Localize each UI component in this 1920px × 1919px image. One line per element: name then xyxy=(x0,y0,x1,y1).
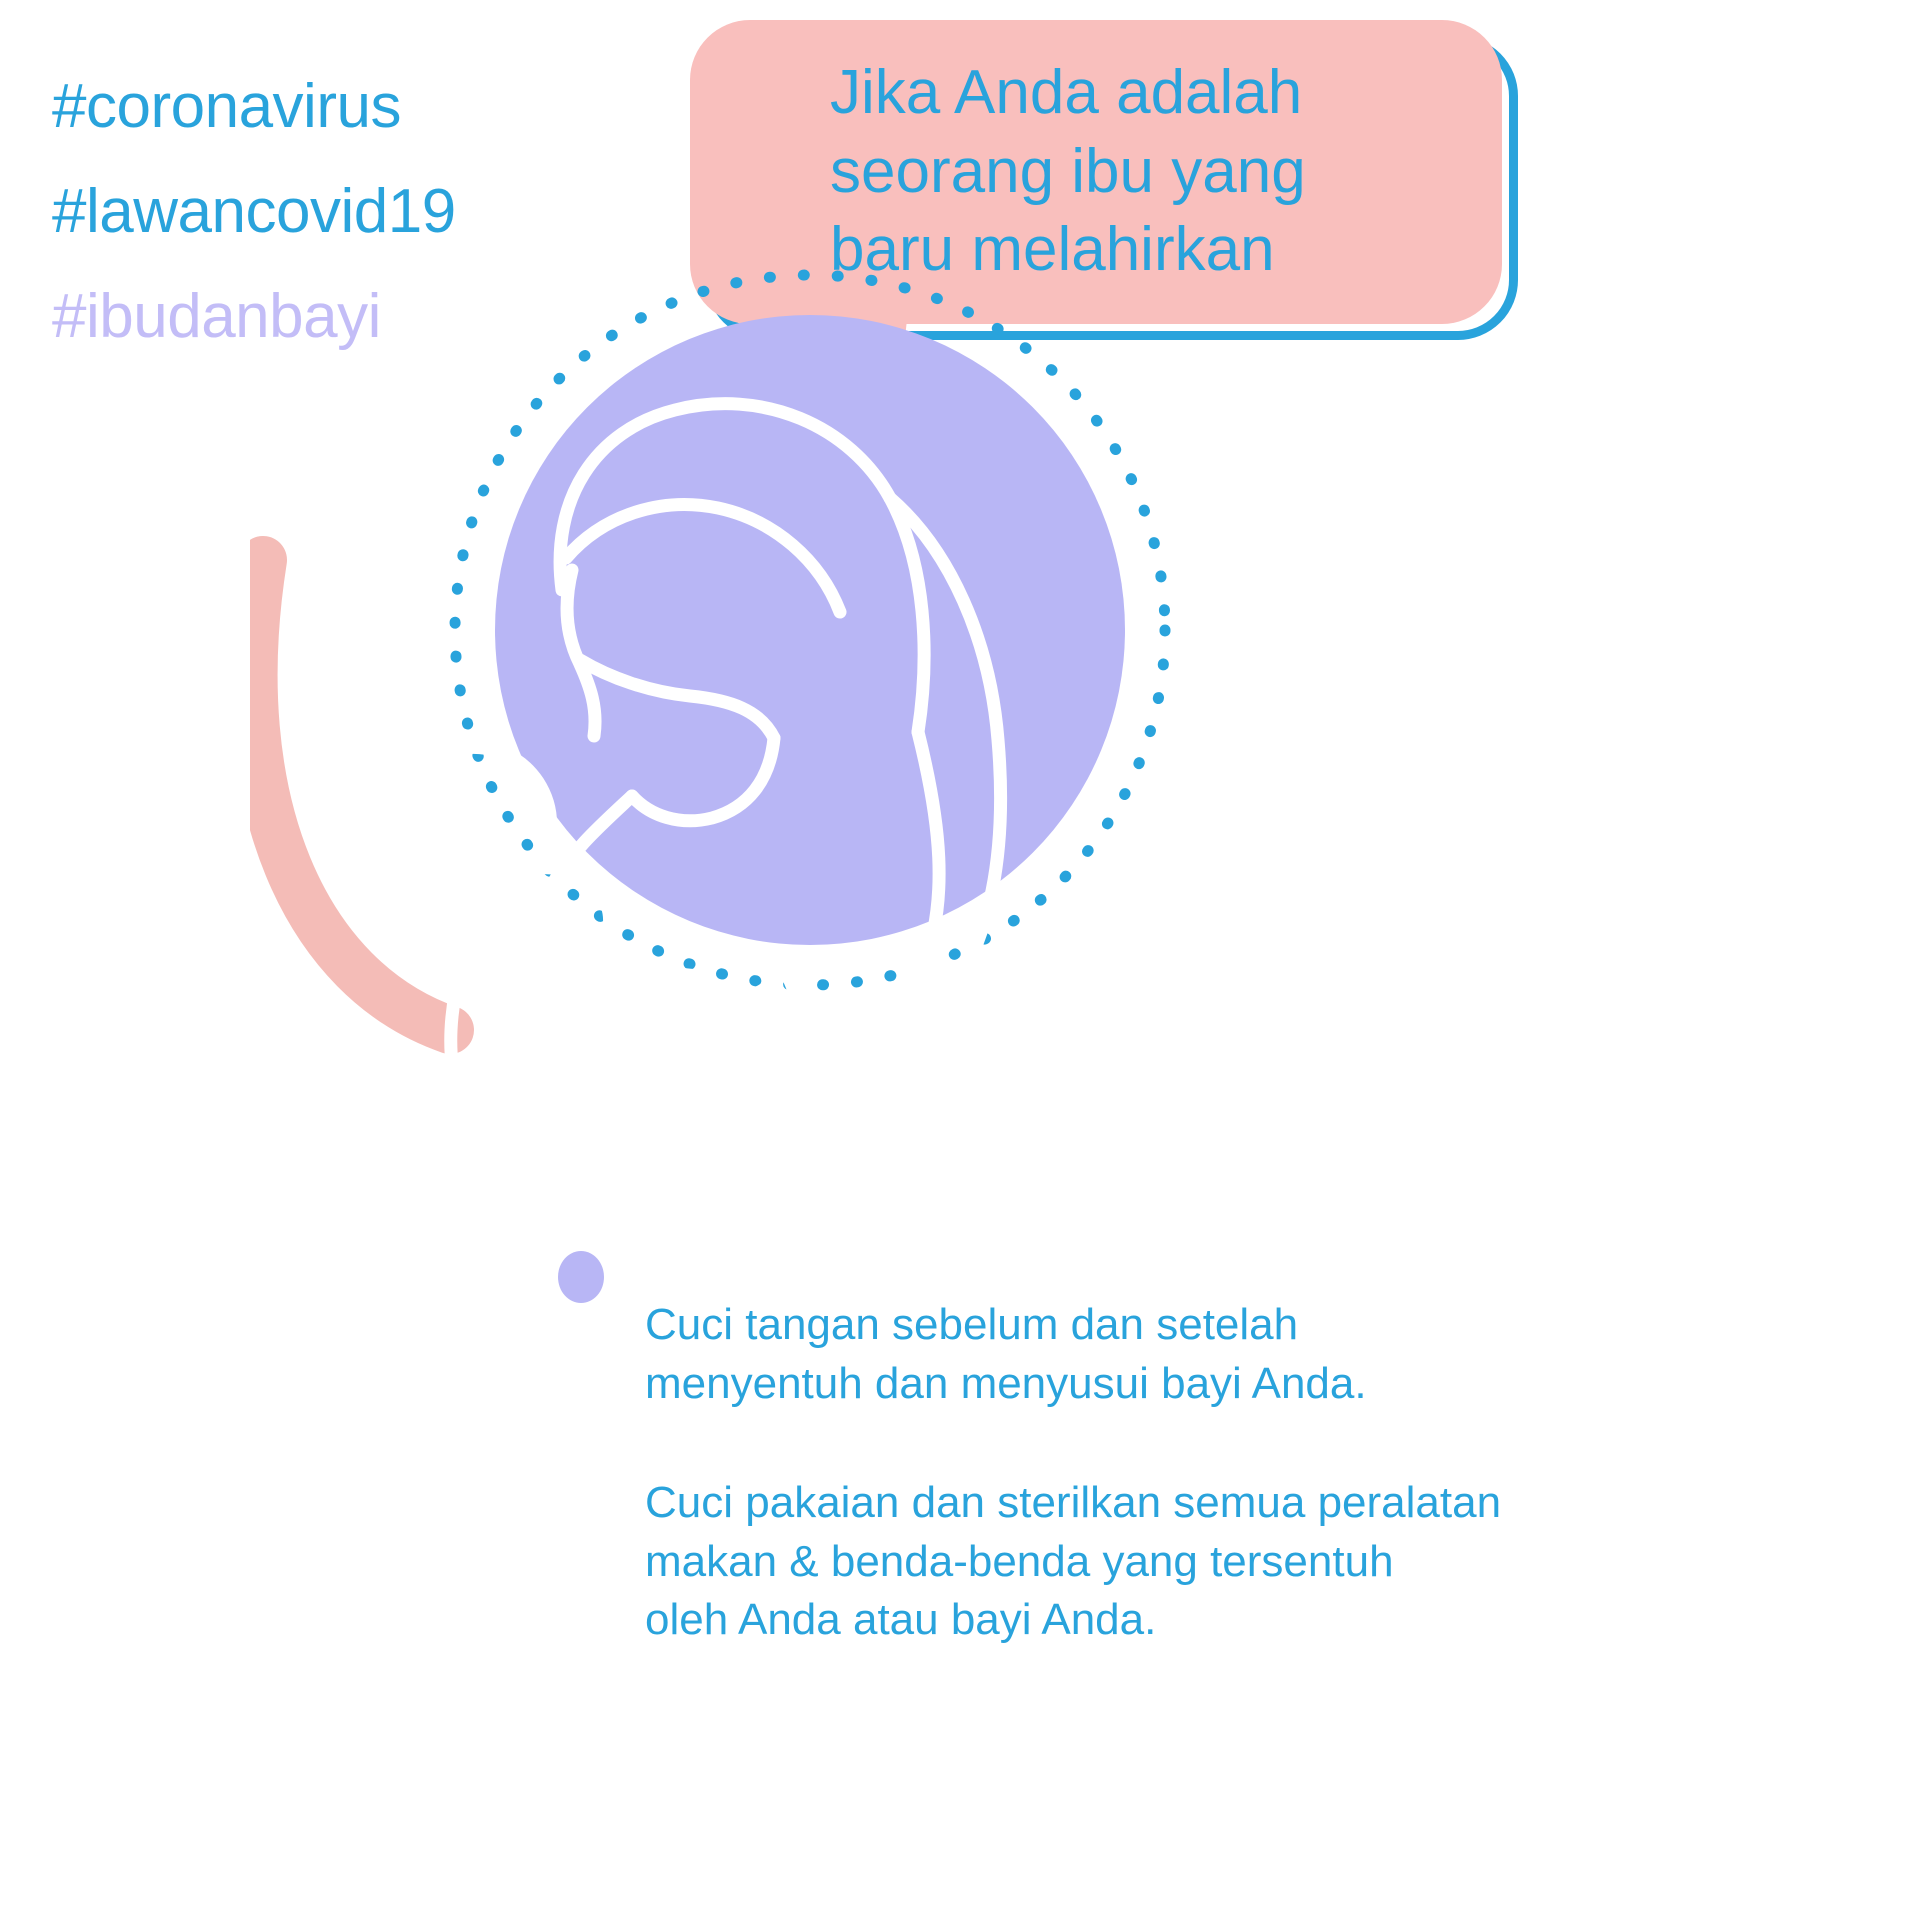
bullet-dot xyxy=(558,1251,604,1303)
pink-arc-decoration xyxy=(254,560,450,1030)
speech-bubble-line-2: seorang ibu yang xyxy=(830,133,1474,212)
tip-text-1: Cuci tangan sebelum dan setelah menyentu… xyxy=(645,1296,1545,1413)
speech-bubble-line-1: Jika Anda adalah xyxy=(830,54,1474,133)
hashtag-coronavirus: #coronavirus xyxy=(52,72,456,141)
hashtag-lawancovid19: #lawancovid19 xyxy=(52,177,456,246)
illustration-mother-and-baby xyxy=(250,240,1370,1300)
tip-text-2: Cuci pakaian dan sterilkan semua peralat… xyxy=(645,1474,1695,1650)
purple-circle-background xyxy=(495,315,1125,945)
